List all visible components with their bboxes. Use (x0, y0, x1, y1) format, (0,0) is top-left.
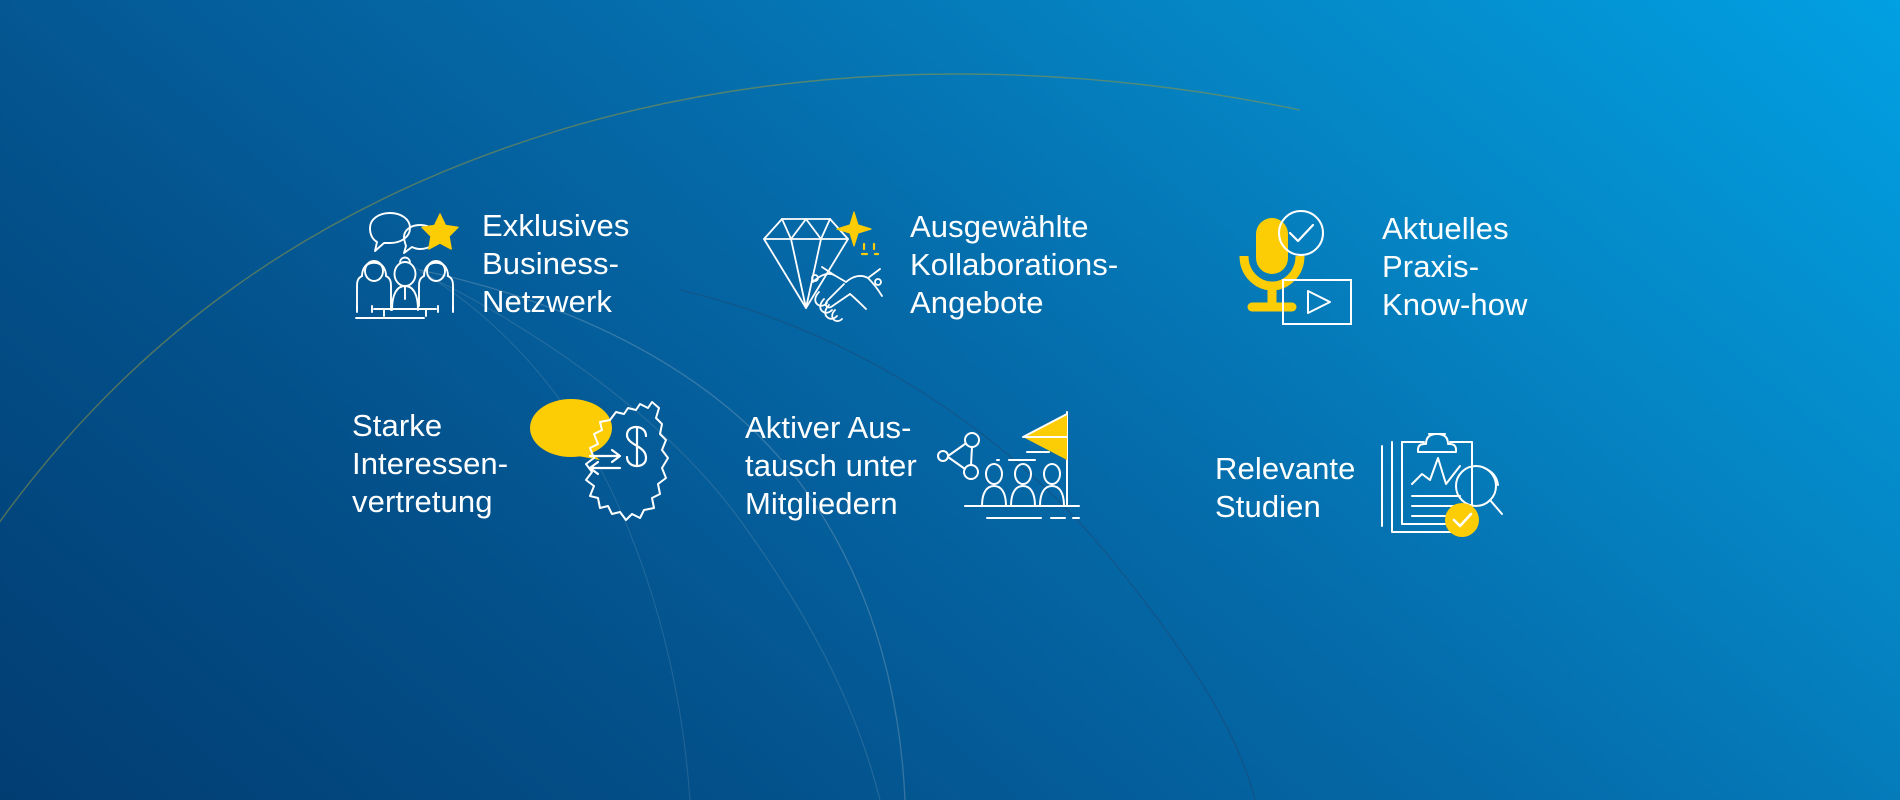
benefit-item-aktuelles-praxis-know-how[interactable]: Aktuelles Praxis- Know-how (1238, 206, 1528, 328)
benefit-label: Ausgewählte Kollaborations- Angebote (910, 208, 1118, 322)
benefit-item-starke-interessenvertretung[interactable]: Starke Interessen- vertretung (352, 398, 676, 530)
clipboard-chart-magnifier-check-icon (1376, 432, 1506, 544)
benefit-label: Aktiver Aus- tausch unter Mitgliedern (745, 409, 917, 523)
germany-map-paragraph-speech-icon (528, 398, 676, 530)
benefit-label: Exklusives Business- Netzwerk (482, 207, 629, 321)
benefit-item-relevante-studien[interactable]: Relevante Studien (1215, 432, 1506, 544)
microphone-video-check-icon (1238, 206, 1360, 328)
people-meeting-star-icon (348, 206, 460, 322)
people-flag-network-icon (937, 400, 1083, 532)
benefit-label: Starke Interessen- vertretung (352, 407, 508, 521)
benefit-item-exklusives-business-netzwerk[interactable]: Exklusives Business- Netzwerk (348, 206, 629, 322)
benefits-banner: Exklusives Business- Netzwerk (0, 0, 1900, 800)
benefit-label: Relevante Studien (1215, 450, 1356, 526)
benefit-label: Aktuelles Praxis- Know-how (1382, 210, 1528, 324)
benefit-item-aktiver-austausch-unter-mitgliedern[interactable]: Aktiver Aus- tausch unter Mitgliedern (745, 400, 1083, 532)
benefit-item-ausgewaehlte-kollaborations-angebote[interactable]: Ausgewählte Kollaborations- Angebote (758, 206, 1118, 324)
diamond-handshake-icon (758, 206, 888, 324)
